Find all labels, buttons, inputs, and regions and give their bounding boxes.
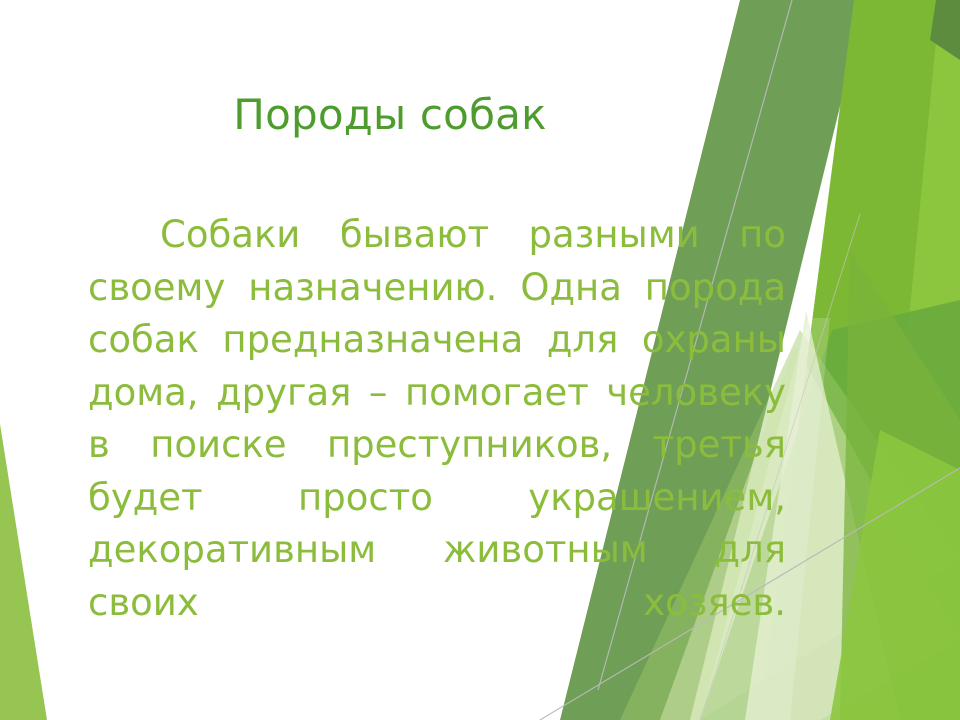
slide-title: Породы собак <box>90 91 690 138</box>
slide-body-text: Собаки бывают разными по своему назначен… <box>88 209 786 682</box>
slide-canvas: Породы собак Собаки бывают разными по св… <box>0 0 960 720</box>
slide-content: Породы собак Собаки бывают разными по св… <box>0 0 960 720</box>
